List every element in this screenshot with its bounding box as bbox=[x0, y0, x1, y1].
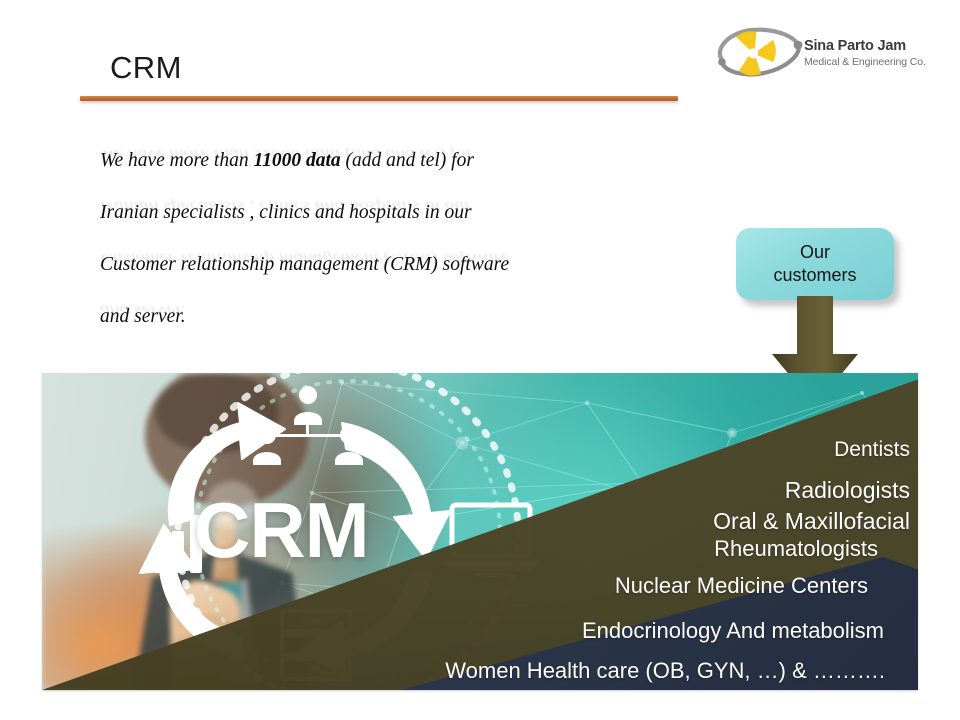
body-line: and server. and server. bbox=[100, 304, 700, 356]
crm-wordmark: CRM bbox=[194, 491, 369, 569]
segment-item[interactable]: Dentists bbox=[834, 438, 910, 462]
logo-text-block: Sina Parto Jam Medical & Engineering Co. bbox=[804, 38, 930, 68]
logo-tagline: Medical & Engineering Co. bbox=[804, 56, 930, 68]
body-line-strong: 11000 data bbox=[253, 150, 340, 171]
segment-item[interactable]: Endocrinology And metabolism bbox=[582, 618, 884, 644]
segment-item[interactable]: Radiologists bbox=[785, 477, 910, 504]
body-line: Customer relationship management (CRM) s… bbox=[100, 252, 700, 304]
body-line-pre: and server. bbox=[100, 306, 186, 327]
title-block: CRM bbox=[80, 52, 680, 85]
company-logo: Sina Parto Jam Medical & Engineering Co. bbox=[712, 24, 930, 90]
segment-item[interactable]: Rheumatologists bbox=[714, 536, 878, 562]
slide-canvas: CRM Sina Parto Jam Medical & Engineering… bbox=[0, 0, 960, 720]
our-customers-label: Our customers bbox=[773, 241, 856, 287]
page-title: CRM bbox=[110, 52, 680, 85]
segment-item[interactable]: Oral & Maxillofacial bbox=[713, 508, 910, 535]
segment-item[interactable]: Nuclear Medicine Centers bbox=[615, 573, 868, 599]
body-line-post: (add and tel) for bbox=[341, 150, 474, 171]
title-underline-rule bbox=[80, 96, 678, 101]
body-paragraph: We have more than 11000 data (add and te… bbox=[100, 148, 700, 356]
crm-image-panel: CRM Dentists Radiologists Oral & Maxillo… bbox=[42, 373, 918, 690]
our-customers-callout[interactable]: Our customers bbox=[736, 228, 894, 300]
body-line-pre: We have more than bbox=[100, 150, 253, 171]
body-line-pre: Customer relationship management (CRM) s… bbox=[100, 254, 509, 275]
body-line: Iranian specialists , clinics and hospit… bbox=[100, 200, 700, 252]
body-line-pre: Iranian specialists , clinics and hospit… bbox=[100, 202, 472, 223]
body-line: We have more than 11000 data (add and te… bbox=[100, 148, 700, 200]
callout-line-2: customers bbox=[773, 265, 856, 285]
callout-line-1: Our bbox=[800, 242, 830, 262]
logo-company-name: Sina Parto Jam bbox=[804, 38, 930, 54]
segment-item[interactable]: Women Health care (OB, GYN, …) & ………. bbox=[445, 658, 885, 684]
radiation-trefoil-icon bbox=[712, 26, 804, 88]
